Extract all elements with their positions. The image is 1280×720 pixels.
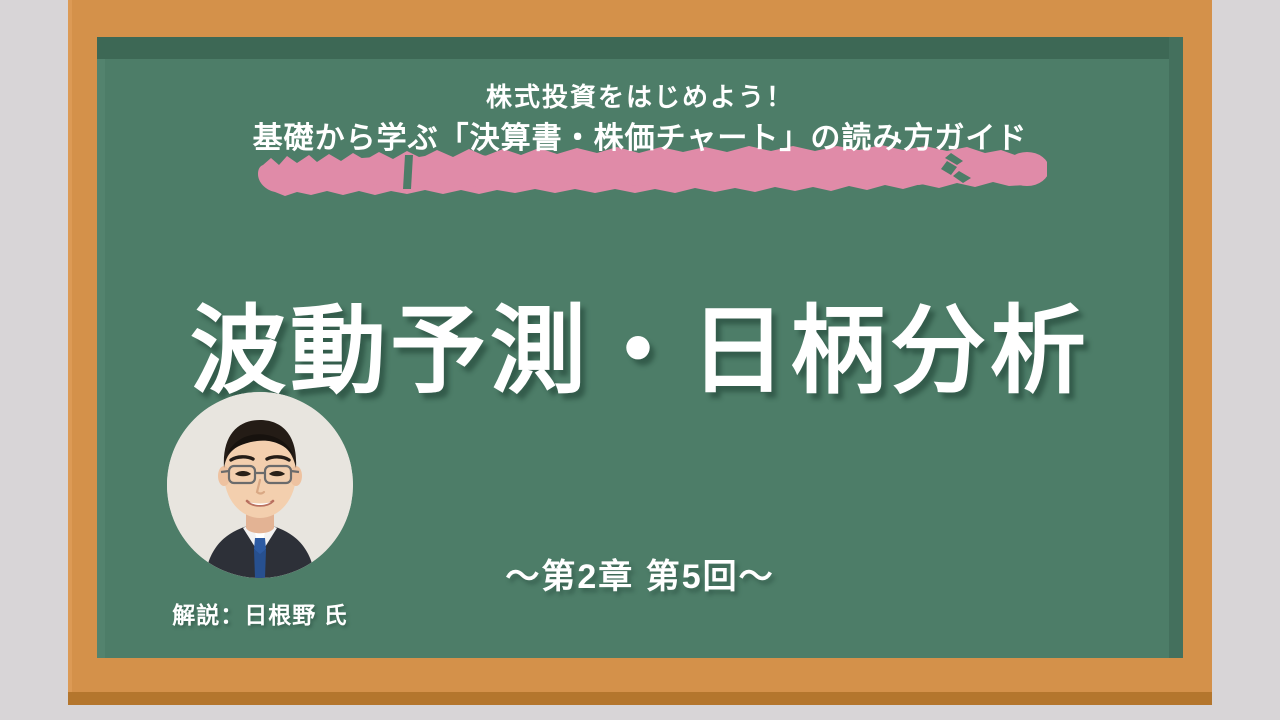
slide-title-block: 波動予測・日柄分析 [97, 297, 1183, 407]
chalkboard-surface: 株式投資をはじめよう！ 基礎から学ぶ「決算書・株価チャート」の読み方ガイド 波動… [97, 37, 1183, 658]
chapter-label: 〜第2章 第5回〜 [505, 549, 774, 598]
presenter-block: 解説：日根野 氏 [145, 392, 375, 630]
frame-left-highlight [68, 0, 72, 705]
header-block: 株式投資をはじめよう！ 基礎から学ぶ「決算書・株価チャート」の読み方ガイド [97, 77, 1183, 161]
slide-title: 波動予測・日柄分析 [190, 297, 1090, 407]
frame-bottom-shade [68, 692, 1212, 705]
course-series-line: 株式投資をはじめよう！ [97, 77, 1183, 117]
board-top-shadow [97, 37, 1183, 59]
avatar [167, 392, 353, 578]
slide-canvas: 株式投資をはじめよう！ 基礎から学ぶ「決算書・株価チャート」の読み方ガイド 波動… [0, 0, 1280, 720]
course-subtitle-line: 基礎から学ぶ「決算書・株価チャート」の読み方ガイド [97, 117, 1183, 161]
presenter-name: 解説：日根野 氏 [145, 596, 375, 630]
